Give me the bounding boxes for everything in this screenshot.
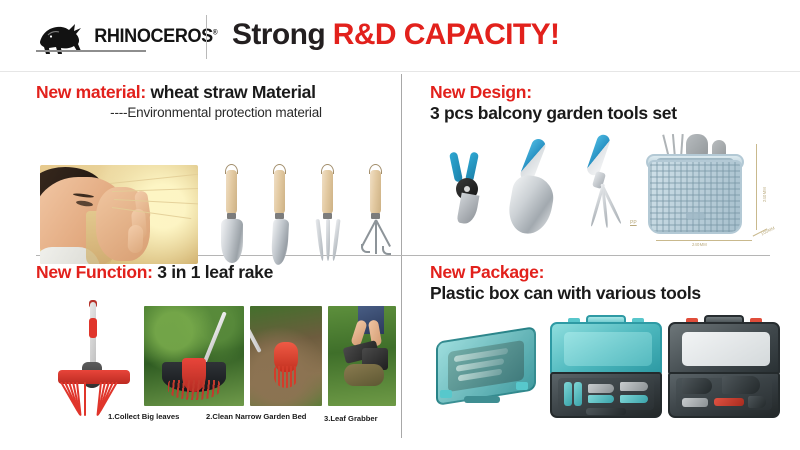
case-tool-shears (564, 382, 572, 406)
case-tool-transplanter (588, 395, 614, 403)
ferrule (371, 213, 380, 219)
cultivator-icon (570, 134, 632, 236)
tool-transplanter (260, 164, 300, 266)
fork-prong (326, 219, 330, 261)
case-lid (668, 322, 780, 374)
case-front-handle (586, 408, 626, 415)
open-teal-case-icon (550, 322, 662, 418)
panel-new-package: New Package: Plastic box can with variou… (430, 262, 780, 434)
shear-blade (457, 193, 480, 226)
closed-teal-case-icon (434, 332, 540, 408)
trowel-blade (221, 219, 243, 263)
caption-1: 1.Collect Big leaves (108, 412, 179, 421)
trowel-icon (508, 138, 566, 234)
straw-strand (110, 173, 198, 184)
straw-handle (226, 170, 237, 214)
header-divider (206, 15, 207, 59)
straw-handle (274, 170, 285, 214)
panel-new-material: New material: wheat straw Material ----E… (36, 82, 396, 250)
rake-tines-shape (274, 366, 298, 388)
fork-prong (331, 219, 340, 261)
registered-mark: ® (213, 30, 218, 37)
page-title-dark: Strong (232, 18, 333, 51)
page-title-accent: R&D CAPACITY! (333, 18, 560, 51)
case-tool-red (714, 398, 744, 406)
shear-pivot-bolt (464, 186, 470, 192)
panel-new-function: New Function: 3 in 1 leaf rake (36, 262, 396, 434)
tool-trowel (212, 164, 252, 266)
page-title: Strong R&D CAPACITY! (232, 18, 559, 52)
case-lid-panel (682, 332, 770, 366)
storage-basket-icon (642, 134, 750, 238)
cultivator-arm (375, 220, 377, 254)
new-design-heading: New Design: (430, 82, 780, 103)
new-material-heading: New material: wheat straw Material (36, 82, 396, 103)
case-tool-shears (574, 382, 582, 406)
brand-wordmark: RHINOCEROS® (94, 26, 217, 48)
photo-leaf-grabber (328, 306, 396, 406)
new-function-value: 3 in 1 leaf rake (153, 262, 273, 282)
cultivator-grip (586, 133, 612, 177)
case-tool-steel (682, 398, 708, 407)
case-tool-dark (748, 396, 766, 408)
logo-underline (36, 50, 146, 52)
header-bar: RHINOCEROS® Strong R&D CAPACITY! (0, 0, 800, 72)
vertical-divider (401, 74, 402, 438)
basket-body (648, 160, 742, 234)
new-package-heading: New Package: (430, 262, 780, 283)
cultivator-hook (361, 244, 370, 253)
photo-collect-big-leaves (144, 306, 244, 406)
trowel-scoop (505, 173, 556, 237)
dimension-depth-label: 100MM (760, 225, 776, 236)
ferrule (323, 213, 332, 219)
tool-fork (308, 164, 348, 266)
cultivator-hook (382, 246, 391, 255)
shear-handle (449, 151, 463, 182)
person-smelling-wheat-photo (40, 165, 198, 264)
rake-pole-shape (202, 311, 227, 364)
straw-handle (322, 170, 333, 214)
case-tool-trowel (588, 384, 614, 393)
case-lid-panel (564, 332, 652, 366)
new-function-label: New Function: (36, 262, 153, 282)
new-material-label: New material: (36, 82, 146, 102)
new-design-label: New Design: (430, 82, 532, 102)
caption-3: 3.Leaf Grabber (324, 414, 378, 423)
dimension-height-label: 240MM (762, 187, 767, 202)
case-tool-cultivator (620, 395, 648, 403)
case-latch (440, 390, 452, 398)
rake-tines-shape (168, 380, 220, 400)
rake-pole-shape (250, 312, 262, 353)
new-function-art: 1.Collect Big leaves 2.Clean Narrow Gard… (36, 298, 396, 438)
material-label: PP (630, 220, 637, 226)
panel-new-design: New Design: 3 pcs balcony garden tools s… (430, 82, 780, 250)
open-gray-case-icon (668, 322, 780, 418)
case-tool-fork (620, 382, 648, 391)
basket-logo-badge (686, 212, 704, 219)
dimension-line-width (656, 240, 752, 241)
cultivator-arm (375, 219, 391, 246)
new-design-value: 3 pcs balcony garden tools set (430, 103, 780, 124)
transplanter-blade (271, 218, 289, 265)
new-material-value: wheat straw Material (146, 82, 316, 102)
new-package-value: Plastic box can with various tools (430, 283, 780, 304)
photo-clean-narrow-garden-bed (250, 306, 322, 406)
case-handle (464, 396, 500, 403)
rake-pole-band (89, 318, 97, 338)
new-package-art (430, 308, 780, 432)
slide-root: RHINOCEROS® Strong R&D CAPACITY! New mat… (0, 0, 800, 450)
case-tool-shears (682, 378, 712, 394)
finger-shape (128, 224, 144, 253)
dimension-width-label: 240MM (692, 242, 707, 247)
new-package-label: New Package: (430, 262, 544, 282)
case-tool-trowel (722, 376, 760, 394)
leaf-rake-product-icon (42, 300, 138, 418)
case-latch (516, 382, 528, 390)
ferrule (227, 213, 236, 219)
pruning-shears-icon (448, 152, 486, 224)
dimension-line-height (756, 144, 757, 230)
brand-name: RHINOCEROS (94, 26, 213, 47)
straw-handle (370, 170, 381, 214)
fork-prong (315, 219, 324, 261)
ferrule (275, 213, 284, 219)
new-design-art: 240MM 240MM 100MM PP (430, 128, 780, 250)
case-lid (550, 322, 662, 374)
wheat-straw-handle-tools (212, 164, 398, 266)
tool-cultivator (356, 164, 396, 266)
leaf-pile-shape (344, 364, 384, 386)
new-material-subtitle: ----Environmental protection material (36, 105, 396, 120)
caption-2: 2.Clean Narrow Garden Bed (206, 412, 306, 421)
new-function-heading: New Function: 3 in 1 leaf rake (36, 262, 396, 283)
header-rule (0, 71, 800, 72)
rake-tine (84, 382, 86, 416)
